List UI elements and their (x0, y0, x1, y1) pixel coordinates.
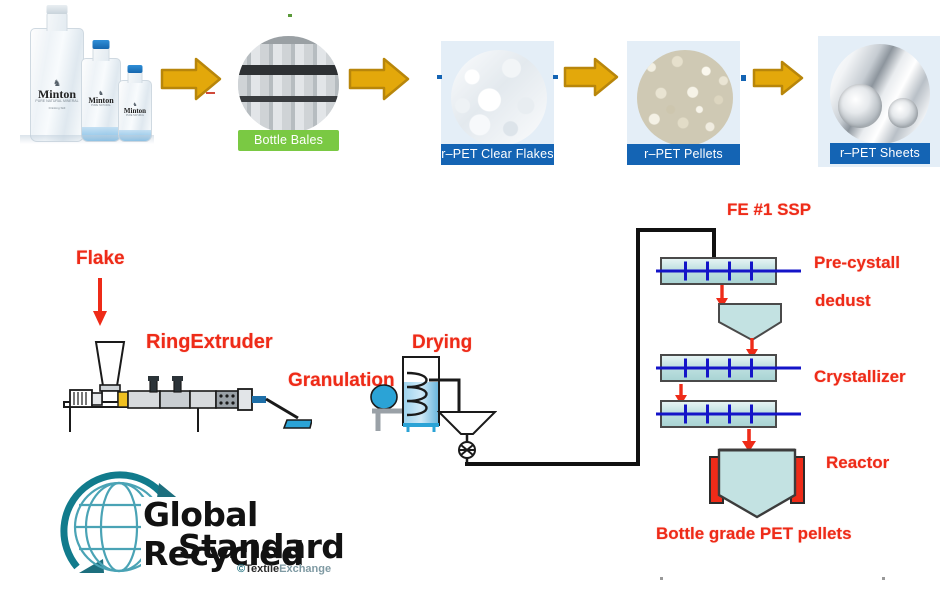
vessel-pre-crystallizer (660, 257, 777, 285)
flake-arrow-icon (90, 278, 110, 328)
step-label-bottle-bales: Bottle Bales (238, 130, 339, 151)
process-arrow-2 (348, 56, 410, 102)
vessel-paddle (750, 359, 753, 378)
process-arrow-3 (563, 56, 619, 98)
vessel-paddle (750, 405, 753, 424)
process-row: ♞ Minton PURE NATURAL MINERAL Drinking S… (0, 0, 950, 185)
ring-extruder-machine (62, 340, 312, 435)
bottle-cap (128, 65, 143, 73)
step-photo-bottles: ♞ Minton PURE NATURAL MINERAL Drinking S… (14, 6, 160, 158)
grs-textile: Textile (245, 563, 279, 575)
diagram-title: FE #1 SSP (727, 200, 811, 220)
vessel-reactor (702, 445, 812, 520)
sheets-image (830, 44, 930, 144)
step-photo-bottle-bales: Bottle Bales (232, 36, 344, 158)
vessel-paddle (706, 359, 709, 378)
vessel-paddle (706, 262, 709, 281)
conveying-pipe-down-to-precrystall (712, 228, 716, 260)
pellets-image (637, 50, 733, 146)
label-reactor: Reactor (826, 453, 889, 473)
bottle-neck (128, 72, 143, 83)
step-photo-rpet-clear-flakes: r–PET Clear Flakes (441, 41, 554, 165)
roll-end-small (888, 98, 918, 128)
dot-marker (660, 577, 663, 580)
process-arrow-1 (160, 56, 222, 102)
dot-marker (288, 14, 292, 17)
step-photo-rpet-pellets: r–PET Pellets (627, 41, 740, 165)
vessel-paddle (706, 405, 709, 424)
vessel-paddle (728, 405, 731, 424)
dot-marker (437, 75, 442, 79)
step-label-rpet-pellets: r–PET Pellets (627, 144, 740, 165)
conveying-pipe-horizontal-bottom (465, 462, 640, 466)
label-dedust: dedust (815, 291, 871, 311)
bottle-large: ♞ Minton PURE NATURAL MINERAL Drinking S… (30, 28, 84, 142)
bottle-neck (93, 48, 110, 61)
bottle-label: ♞ Minton PURE NATURAL MINERAL Drinking S… (34, 79, 80, 110)
grs-textile-exchange-mark: ©TextileExchange (237, 563, 331, 575)
dot-marker (553, 75, 558, 79)
vessel-paddle (728, 359, 731, 378)
global-recycled-standard-logo: Global Recycled Standard ©TextileExchang… (55, 455, 350, 595)
conveying-pipe-vertical (636, 228, 640, 466)
process-arrow-4 (752, 59, 804, 97)
vessel-paddle (684, 262, 687, 281)
flakes-image (451, 50, 547, 146)
conveying-pipe-top (636, 228, 716, 232)
label-flake: Flake (76, 248, 125, 270)
bottle-label: ♞ Minton PURE NATURAL (84, 91, 118, 108)
bottle-medium: ♞ Minton PURE NATURAL (81, 58, 121, 142)
bales-image (238, 36, 339, 133)
bottle-cap (93, 40, 110, 49)
label-output-pellets: Bottle grade PET pellets (656, 524, 852, 544)
dot-marker (741, 75, 746, 81)
bottle-cap (47, 5, 68, 14)
bottle-neck (47, 12, 68, 31)
vessel-paddle (684, 405, 687, 424)
dot-marker (882, 577, 885, 580)
bottle-small: ♞ Minton PURE NATURAL (118, 80, 152, 142)
bottle-label: ♞ Minton PURE NATURAL (121, 103, 149, 117)
roll-end (838, 84, 882, 128)
step-photo-rpet-sheets: r–PET Sheets (818, 36, 940, 167)
label-crystallizer: Crystallizer (814, 367, 906, 387)
vessel-paddle (684, 359, 687, 378)
vessel-dedust (718, 302, 784, 342)
label-pre-crystall: Pre-cystall (814, 253, 900, 273)
dash-marker (206, 92, 215, 94)
step-label-rpet-clear-flakes: r–PET Clear Flakes (441, 144, 554, 165)
vessel-paddle (728, 262, 731, 281)
vessel-paddle (750, 262, 753, 281)
vessel-crystallizer-1 (660, 354, 777, 382)
vessel-crystallizer-2 (660, 400, 777, 428)
grs-title-line2: Standard (178, 527, 344, 566)
label-drying: Drying (412, 332, 472, 354)
grs-copyright: © (237, 563, 245, 575)
grs-exchange: Exchange (279, 563, 331, 575)
step-label-rpet-sheets: r–PET Sheets (830, 143, 930, 164)
funnel-valve (437, 410, 497, 465)
